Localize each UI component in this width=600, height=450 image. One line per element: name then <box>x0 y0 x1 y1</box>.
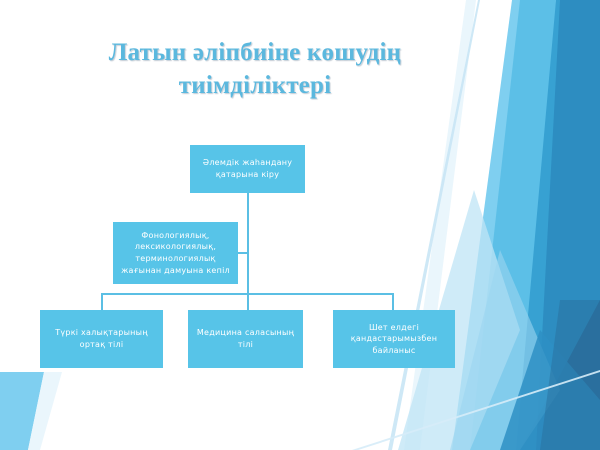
decor-shape-skyblue-right <box>470 0 560 450</box>
connector-horizontal-bar <box>101 293 394 295</box>
diagram-node-bottom-center[interactable]: Медицина саласының тілі <box>188 310 303 368</box>
connector-stub-to-middle-node <box>238 252 248 254</box>
page-title: Латын әліпбиіне көшудің тиімділіктері <box>55 36 455 102</box>
decor-shape-dark-right <box>508 0 600 450</box>
presentation-slide: Латын әліпбиіне көшудің тиімділіктері Әл… <box>0 0 600 450</box>
decor-shape-pale-lower-2 <box>450 250 560 450</box>
connector-drop-bottom-right <box>392 293 394 310</box>
diagram-node-bottom-right[interactable]: Шет елдегі қандастарымызбен байланыс <box>333 310 455 368</box>
decor-shape-midblue-right <box>470 0 600 450</box>
diagram-node-middle[interactable]: Фонологиялық, лексикологиялық, терминоло… <box>113 222 238 284</box>
decor-shape-bottom-left-wedge <box>0 372 44 450</box>
diagram-node-bottom-left[interactable]: Түркі халықтарының ортақ тілі <box>40 310 163 368</box>
decor-shape-accent-triangle <box>500 330 600 450</box>
decor-hairline-lower <box>352 370 600 450</box>
decor-shape-lightblue-right <box>452 0 556 450</box>
connector-drop-bottom-left <box>101 293 103 310</box>
diagram-node-top[interactable]: Әлемдік жаһандану қатарына кіру <box>190 145 305 193</box>
decor-shape-accent-triangle-2 <box>540 300 600 450</box>
decor-shape-bottom-left-pale <box>28 372 62 450</box>
